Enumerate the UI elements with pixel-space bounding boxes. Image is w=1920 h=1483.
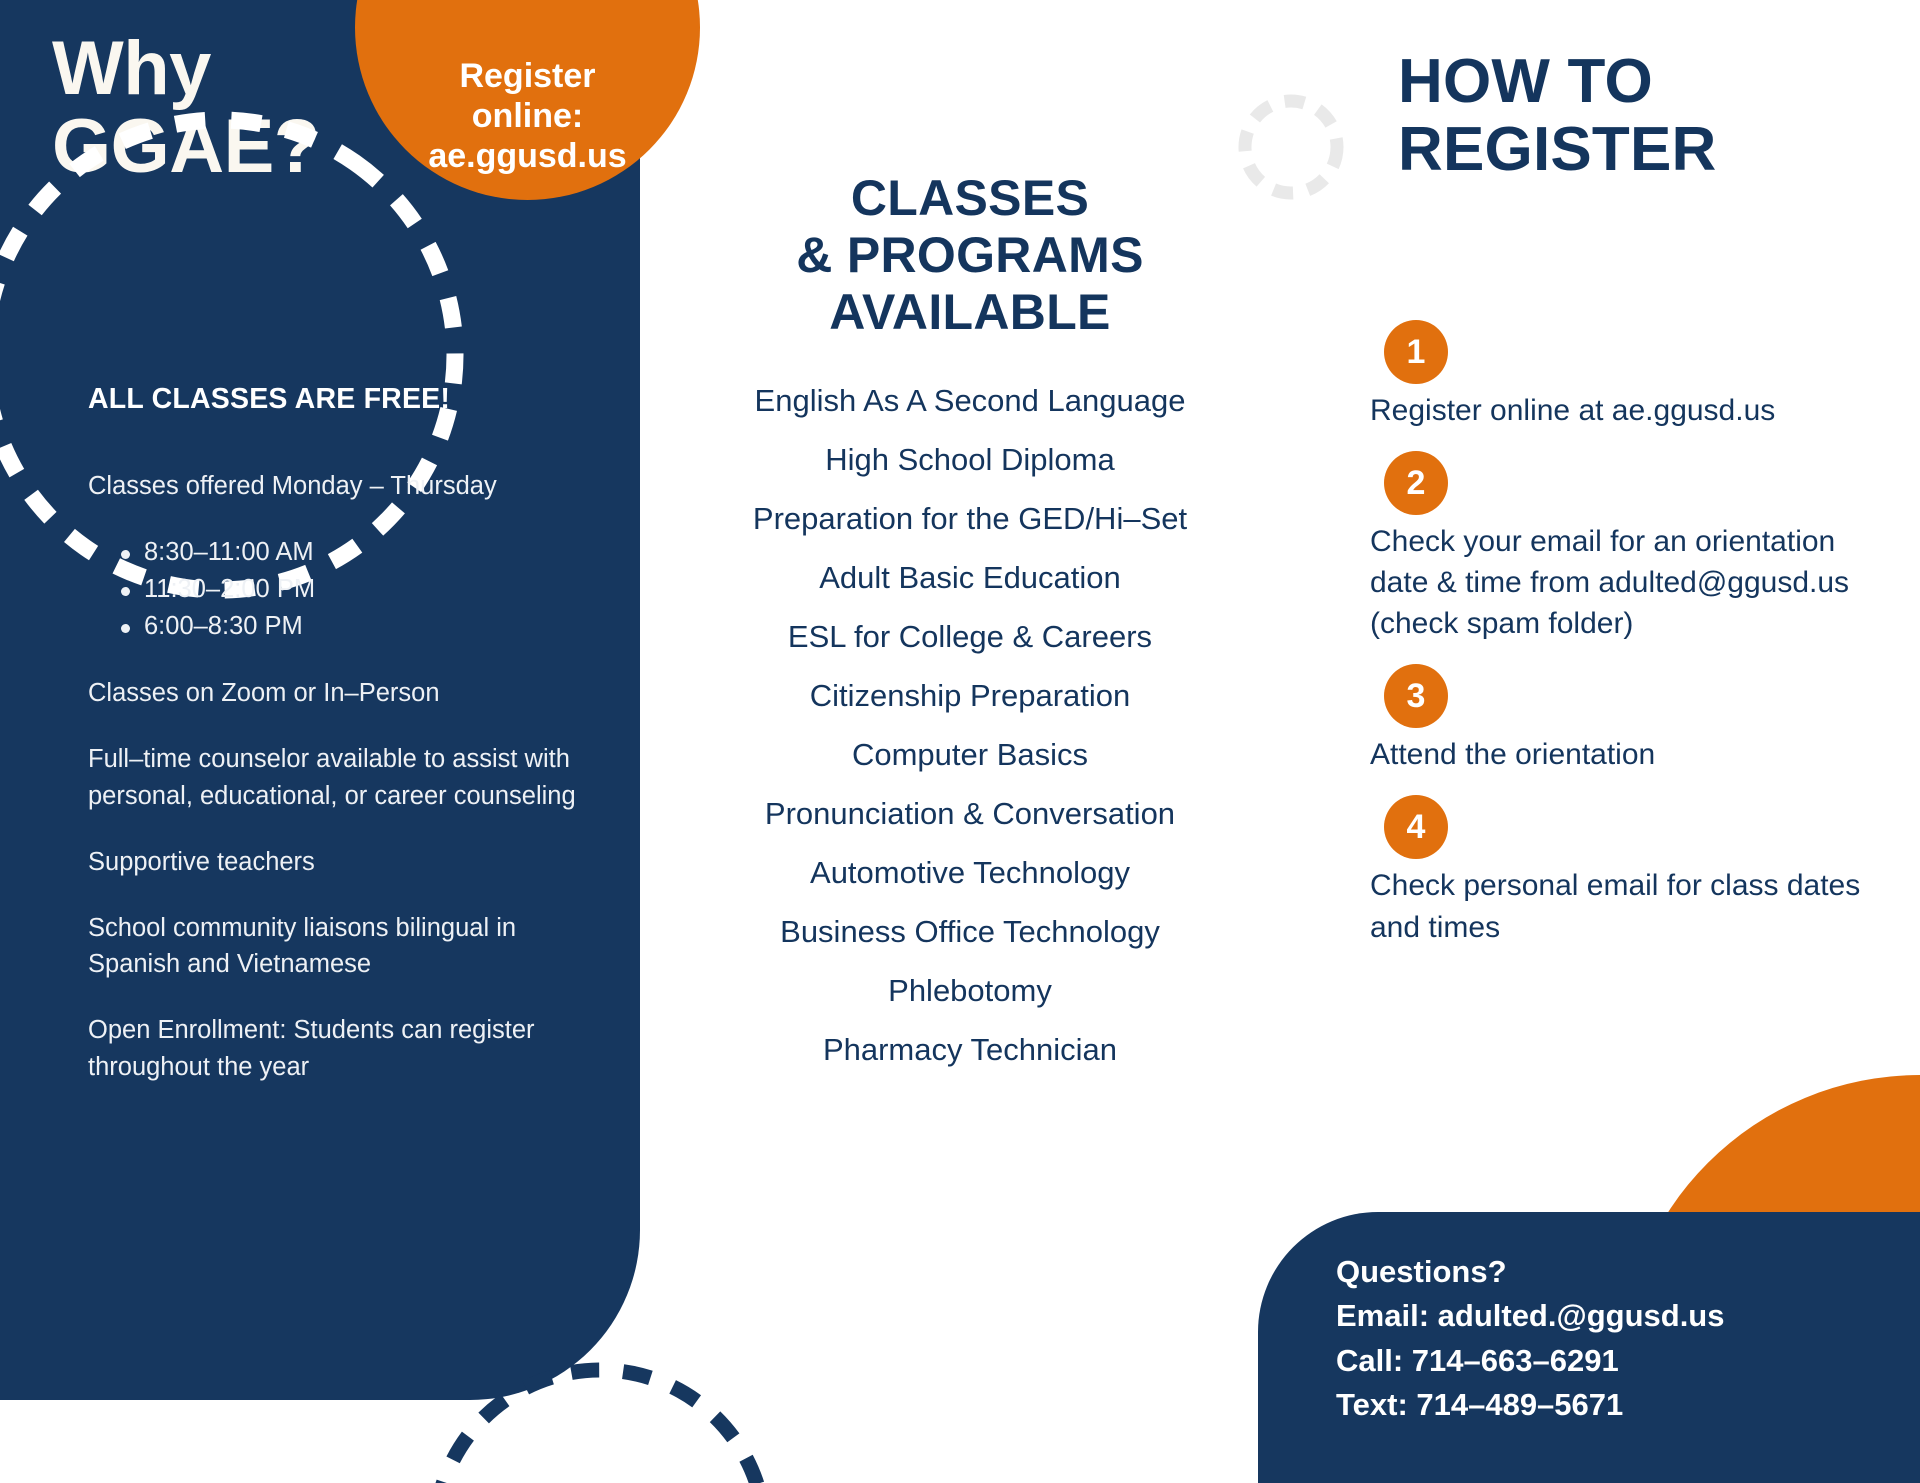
list-item: Computer Basics xyxy=(660,725,1280,784)
step-1: 1 Register online at ae.ggusd.us xyxy=(1370,320,1890,431)
classes-list: English As A Second Language High School… xyxy=(660,371,1280,1079)
classes-programs-title: CLASSES & PROGRAMS AVAILABLE xyxy=(660,170,1280,341)
benefit-liaisons: School community liaisons bilingual in S… xyxy=(88,910,600,982)
why-ggae-panel: Why GGAE? ALL CLASSES ARE FREE! Classes … xyxy=(0,0,640,1400)
questions-call[interactable]: Call: 714–663–6291 xyxy=(1336,1339,1920,1383)
questions-contact-box: Questions? Email: adulted.@ggusd.us Call… xyxy=(1258,1212,1920,1483)
step-text: Register online at ae.ggusd.us xyxy=(1370,390,1870,431)
dashed-circle-decoration-icon xyxy=(1236,92,1346,202)
register-online-text: Register online: ae.ggusd.us xyxy=(428,56,626,176)
step-text: Check your email for an orientation date… xyxy=(1370,521,1870,644)
questions-text[interactable]: Text: 714–489–5671 xyxy=(1336,1383,1920,1427)
schedule-intro: Classes offered Monday – Thursday xyxy=(88,468,600,504)
list-item: Adult Basic Education xyxy=(660,548,1280,607)
list-item: Pronunciation & Conversation xyxy=(660,784,1280,843)
list-item: Automotive Technology xyxy=(660,843,1280,902)
dashed-arc-bottom-icon xyxy=(420,1355,780,1483)
benefit-zoom-inperson: Classes on Zoom or In–Person xyxy=(88,675,600,711)
list-item: Preparation for the GED/Hi–Set xyxy=(660,489,1280,548)
list-item: Pharmacy Technician xyxy=(660,1020,1280,1079)
questions-heading: Questions? xyxy=(1336,1250,1920,1294)
classes-programs-column: CLASSES & PROGRAMS AVAILABLE English As … xyxy=(660,170,1280,1079)
schedule-times-list: 8:30–11:00 AM 11:30–2:00 PM 6:00–8:30 PM xyxy=(88,534,600,645)
step-text: Check personal email for class dates and… xyxy=(1370,865,1870,947)
list-item: Business Office Technology xyxy=(660,902,1280,961)
step-2: 2 Check your email for an orientation da… xyxy=(1370,451,1890,644)
list-item: Phlebotomy xyxy=(660,961,1280,1020)
flyer-canvas: Why GGAE? ALL CLASSES ARE FREE! Classes … xyxy=(0,0,1920,1483)
step-number-badge: 2 xyxy=(1384,451,1448,515)
list-item: 8:30–11:00 AM xyxy=(88,534,600,571)
list-item: Citizenship Preparation xyxy=(660,666,1280,725)
registration-steps: 1 Register online at ae.ggusd.us 2 Check… xyxy=(1370,320,1890,968)
questions-email[interactable]: Email: adulted.@ggusd.us xyxy=(1336,1294,1920,1338)
list-item: ESL for College & Careers xyxy=(660,607,1280,666)
list-item: English As A Second Language xyxy=(660,371,1280,430)
step-4: 4 Check personal email for class dates a… xyxy=(1370,795,1890,947)
all-classes-free-heading: ALL CLASSES ARE FREE! xyxy=(88,383,450,416)
step-text: Attend the orientation xyxy=(1370,734,1870,775)
how-to-register-title: HOW TO REGISTER xyxy=(1398,48,1717,184)
why-ggae-title: Why GGAE? xyxy=(52,30,320,187)
list-item: High School Diploma xyxy=(660,430,1280,489)
benefit-teachers: Supportive teachers xyxy=(88,844,600,880)
benefit-counselor: Full–time counselor available to assist … xyxy=(88,741,600,813)
list-item: 11:30–2:00 PM xyxy=(88,571,600,608)
step-number-badge: 1 xyxy=(1384,320,1448,384)
step-number-badge: 4 xyxy=(1384,795,1448,859)
left-body-text: Classes offered Monday – Thursday 8:30–1… xyxy=(88,468,600,1115)
step-number-badge: 3 xyxy=(1384,664,1448,728)
benefit-open-enrollment: Open Enrollment: Students can register t… xyxy=(88,1012,600,1084)
step-3: 3 Attend the orientation xyxy=(1370,664,1890,775)
list-item: 6:00–8:30 PM xyxy=(88,608,600,645)
